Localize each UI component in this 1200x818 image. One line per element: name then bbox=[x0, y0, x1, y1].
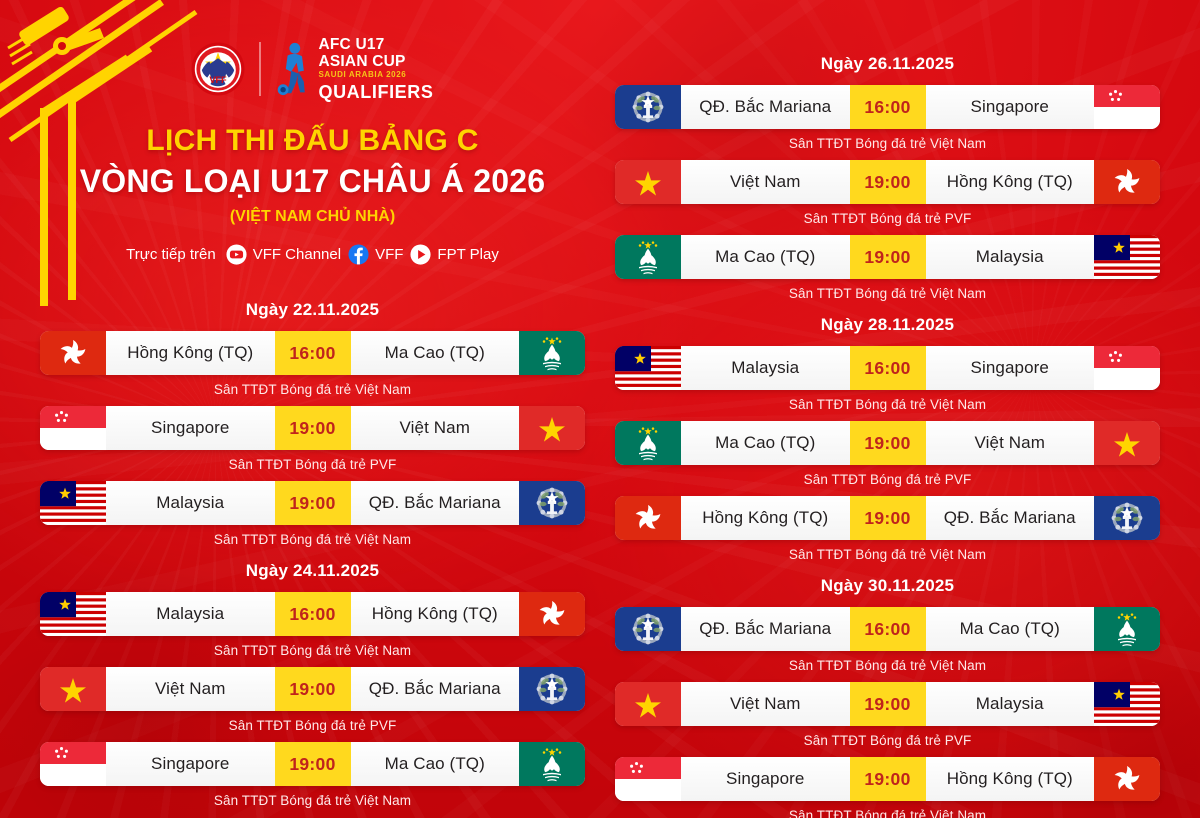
match-time: 16:00 bbox=[275, 592, 351, 636]
match-time: 16:00 bbox=[850, 607, 926, 651]
day-block: Ngày 30.11.2025 bbox=[615, 576, 1160, 818]
away-team-name: Malaysia bbox=[926, 235, 1095, 279]
youtube-icon bbox=[226, 244, 247, 265]
day-block: Ngày 22.11.2025 Hồng Kông (TQ) 16:00 Ma … bbox=[40, 300, 585, 547]
flag-macau bbox=[1094, 607, 1160, 651]
vff-logo-icon: VFF bbox=[191, 42, 245, 96]
flag-vietnam bbox=[1094, 421, 1160, 465]
match-venue: Sân TTĐT Bóng đá trẻ Việt Nam bbox=[615, 658, 1160, 673]
home-team-name: QĐ. Bắc Mariana bbox=[681, 85, 850, 129]
fixture-poster: VFF AFC U17 ASIAN CUP SAUDI ARABIA 2026 … bbox=[0, 0, 1200, 818]
home-flag-cell bbox=[615, 346, 681, 390]
flag-malaysia bbox=[40, 592, 106, 636]
flag-northern-mariana-islands bbox=[615, 607, 681, 651]
match-venue: Sân TTĐT Bóng đá trẻ PVF bbox=[615, 211, 1160, 226]
flag-macau bbox=[615, 421, 681, 465]
home-flag-cell bbox=[40, 331, 106, 375]
away-flag-cell bbox=[519, 481, 585, 525]
away-flag-cell bbox=[1094, 757, 1160, 801]
home-flag-cell bbox=[40, 667, 106, 711]
home-flag-cell bbox=[615, 160, 681, 204]
broadcast-youtube[interactable]: VFF Channel bbox=[226, 244, 341, 265]
match-time: 19:00 bbox=[275, 667, 351, 711]
afc-logo-block: AFC U17 ASIAN CUP SAUDI ARABIA 2026 QUAL… bbox=[275, 37, 433, 101]
broadcast-facebook-label: VFF bbox=[375, 246, 403, 263]
match-row[interactable]: Hồng Kông (TQ) 16:00 Ma Cao (TQ) bbox=[40, 331, 585, 375]
match-row[interactable]: Ma Cao (TQ) 19:00 Việt Nam bbox=[615, 421, 1160, 465]
match-row[interactable]: Hồng Kông (TQ) 19:00 QĐ. Bắc Mariana bbox=[615, 496, 1160, 540]
away-flag-cell bbox=[519, 331, 585, 375]
match-venue: Sân TTĐT Bóng đá trẻ Việt Nam bbox=[40, 643, 585, 658]
flag-northern-mariana-islands bbox=[615, 85, 681, 129]
flag-vietnam bbox=[615, 682, 681, 726]
afc-line-1: AFC U17 bbox=[318, 37, 433, 53]
match-venue: Sân TTĐT Bóng đá trẻ Việt Nam bbox=[615, 397, 1160, 412]
broadcast-lead-label: Trực tiếp trên bbox=[126, 246, 216, 263]
home-team-name: Hồng Kông (TQ) bbox=[106, 331, 275, 375]
match-venue: Sân TTĐT Bóng đá trẻ Việt Nam bbox=[615, 136, 1160, 151]
home-flag-cell bbox=[615, 85, 681, 129]
match-venue: Sân TTĐT Bóng đá trẻ Việt Nam bbox=[615, 286, 1160, 301]
afc-logo-text: AFC U17 ASIAN CUP SAUDI ARABIA 2026 QUAL… bbox=[318, 37, 433, 101]
flag-northern-mariana-islands bbox=[519, 667, 585, 711]
flag-singapore bbox=[40, 406, 106, 450]
home-flag-cell bbox=[40, 742, 106, 786]
schedule-column-left: Ngày 22.11.2025 Hồng Kông (TQ) 16:00 Ma … bbox=[40, 300, 585, 817]
match-venue: Sân TTĐT Bóng đá trẻ PVF bbox=[40, 718, 585, 733]
away-flag-cell bbox=[519, 592, 585, 636]
home-flag-cell bbox=[615, 682, 681, 726]
match-row[interactable]: QĐ. Bắc Mariana 16:00 Ma Cao (TQ) bbox=[615, 607, 1160, 651]
match-venue: Sân TTĐT Bóng đá trẻ Việt Nam bbox=[40, 793, 585, 808]
away-flag-cell bbox=[1094, 682, 1160, 726]
flag-vietnam bbox=[519, 406, 585, 450]
flag-malaysia bbox=[1094, 682, 1160, 726]
away-team-name: Malaysia bbox=[926, 682, 1095, 726]
away-team-name: Việt Nam bbox=[351, 406, 520, 450]
home-team-name: Ma Cao (TQ) bbox=[681, 421, 850, 465]
away-flag-cell bbox=[1094, 496, 1160, 540]
broadcast-facebook[interactable]: VFF bbox=[348, 244, 403, 265]
home-team-name: Singapore bbox=[106, 406, 275, 450]
home-flag-cell bbox=[615, 607, 681, 651]
match-time: 19:00 bbox=[850, 235, 926, 279]
home-flag-cell bbox=[615, 496, 681, 540]
flag-hong-kong bbox=[40, 331, 106, 375]
day-date-label: Ngày 24.11.2025 bbox=[40, 561, 585, 581]
home-flag-cell bbox=[40, 406, 106, 450]
flag-malaysia bbox=[1094, 235, 1160, 279]
home-flag-cell bbox=[615, 757, 681, 801]
day-date-label: Ngày 22.11.2025 bbox=[40, 300, 585, 320]
afc-line-2: ASIAN CUP bbox=[318, 54, 433, 70]
day-date-label: Ngày 30.11.2025 bbox=[615, 576, 1160, 596]
day-date-label: Ngày 28.11.2025 bbox=[615, 315, 1160, 335]
away-team-name: QĐ. Bắc Mariana bbox=[926, 496, 1095, 540]
away-flag-cell bbox=[519, 742, 585, 786]
home-team-name: Việt Nam bbox=[681, 682, 850, 726]
broadcast-fptplay-label: FPT Play bbox=[437, 246, 498, 263]
day-block: Ngày 24.11.2025 Malaysia 16:00 Hồng Kông… bbox=[40, 561, 585, 808]
flag-macau bbox=[615, 235, 681, 279]
home-team-name: QĐ. Bắc Mariana bbox=[681, 607, 850, 651]
away-team-name: QĐ. Bắc Mariana bbox=[351, 667, 520, 711]
match-time: 19:00 bbox=[850, 496, 926, 540]
away-team-name: Singapore bbox=[926, 85, 1095, 129]
match-venue: Sân TTĐT Bóng đá trẻ Việt Nam bbox=[615, 808, 1160, 818]
home-team-name: Malaysia bbox=[106, 481, 275, 525]
match-venue: Sân TTĐT Bóng đá trẻ Việt Nam bbox=[615, 547, 1160, 562]
away-flag-cell bbox=[1094, 85, 1160, 129]
away-flag-cell bbox=[1094, 607, 1160, 651]
page-title-line-3: (VIỆT NAM CHỦ NHÀ) bbox=[40, 208, 585, 226]
svg-text:VFF: VFF bbox=[210, 75, 228, 85]
fptplay-icon bbox=[410, 244, 431, 265]
home-team-name: Việt Nam bbox=[681, 160, 850, 204]
match-row[interactable]: Malaysia 16:00 Hồng Kông (TQ) bbox=[40, 592, 585, 636]
match-venue: Sân TTĐT Bóng đá trẻ Việt Nam bbox=[40, 382, 585, 397]
afc-line-4: QUALIFIERS bbox=[318, 83, 433, 101]
match-venue: Sân TTĐT Bóng đá trẻ PVF bbox=[615, 733, 1160, 748]
match-row[interactable]: Việt Nam 19:00 Malaysia bbox=[615, 682, 1160, 726]
day-date-label: Ngày 26.11.2025 bbox=[615, 54, 1160, 74]
away-team-name: Ma Cao (TQ) bbox=[351, 331, 520, 375]
flag-hong-kong bbox=[519, 592, 585, 636]
match-row[interactable]: Singapore 19:00 Hồng Kông (TQ) bbox=[615, 757, 1160, 801]
flag-singapore bbox=[1094, 85, 1160, 129]
afc-player-icon bbox=[275, 41, 311, 97]
flag-hong-kong bbox=[1094, 160, 1160, 204]
match-time: 19:00 bbox=[275, 742, 351, 786]
home-team-name: Singapore bbox=[106, 742, 275, 786]
afc-line-3: SAUDI ARABIA 2026 bbox=[318, 71, 433, 79]
match-row[interactable]: Malaysia 19:00 QĐ. Bắc Mariana bbox=[40, 481, 585, 525]
away-flag-cell bbox=[519, 667, 585, 711]
schedule-column-right: Ngày 26.11.2025 bbox=[615, 40, 1160, 818]
flag-vietnam bbox=[615, 160, 681, 204]
day-block: Ngày 26.11.2025 bbox=[615, 54, 1160, 301]
day-block: Ngày 28.11.2025 Malaysia 16:00 Singapore bbox=[615, 315, 1160, 562]
flag-singapore bbox=[40, 742, 106, 786]
home-team-name: Malaysia bbox=[106, 592, 275, 636]
flag-northern-mariana-islands bbox=[519, 481, 585, 525]
page-title-line-2: VÒNG LOẠI U17 CHÂU Á 2026 bbox=[40, 163, 585, 200]
away-team-name: Hồng Kông (TQ) bbox=[926, 160, 1095, 204]
home-team-name: Ma Cao (TQ) bbox=[681, 235, 850, 279]
away-flag-cell bbox=[1094, 346, 1160, 390]
match-row[interactable]: Việt Nam 19:00 Hồng Kông (TQ) bbox=[615, 160, 1160, 204]
home-team-name: Việt Nam bbox=[106, 667, 275, 711]
facebook-icon bbox=[348, 244, 369, 265]
match-row[interactable]: Singapore 19:00 Ma Cao (TQ) bbox=[40, 742, 585, 786]
broadcast-row: Trực tiếp trên VFF Channel VFF bbox=[40, 244, 585, 265]
match-row[interactable]: Singapore 19:00 Việt Nam bbox=[40, 406, 585, 450]
home-flag-cell bbox=[615, 235, 681, 279]
flag-malaysia bbox=[40, 481, 106, 525]
away-flag-cell bbox=[1094, 421, 1160, 465]
away-team-name: QĐ. Bắc Mariana bbox=[351, 481, 520, 525]
match-time: 19:00 bbox=[850, 421, 926, 465]
away-team-name: Ma Cao (TQ) bbox=[351, 742, 520, 786]
match-venue: Sân TTĐT Bóng đá trẻ Việt Nam bbox=[40, 532, 585, 547]
match-time: 16:00 bbox=[850, 85, 926, 129]
poster-header: VFF AFC U17 ASIAN CUP SAUDI ARABIA 2026 … bbox=[40, 30, 585, 265]
match-time: 16:00 bbox=[850, 346, 926, 390]
match-row[interactable]: QĐ. Bắc Mariana 16:00 Singapore bbox=[615, 85, 1160, 129]
home-team-name: Hồng Kông (TQ) bbox=[681, 496, 850, 540]
away-team-name: Hồng Kông (TQ) bbox=[926, 757, 1095, 801]
away-team-name: Việt Nam bbox=[926, 421, 1095, 465]
home-flag-cell bbox=[615, 421, 681, 465]
match-time: 19:00 bbox=[275, 481, 351, 525]
match-time: 19:00 bbox=[275, 406, 351, 450]
match-row[interactable]: Việt Nam 19:00 QĐ. Bắc Mariana bbox=[40, 667, 585, 711]
logo-row: VFF AFC U17 ASIAN CUP SAUDI ARABIA 2026 … bbox=[40, 30, 585, 108]
match-row[interactable]: Malaysia 16:00 Singapore bbox=[615, 346, 1160, 390]
flag-macau bbox=[519, 742, 585, 786]
flag-northern-mariana-islands bbox=[1094, 496, 1160, 540]
flag-hong-kong bbox=[1094, 757, 1160, 801]
flag-malaysia bbox=[615, 346, 681, 390]
flag-singapore bbox=[615, 757, 681, 801]
away-team-name: Singapore bbox=[926, 346, 1095, 390]
away-flag-cell bbox=[519, 406, 585, 450]
match-time: 19:00 bbox=[850, 682, 926, 726]
match-row[interactable]: Ma Cao (TQ) 19:00 Malaysia bbox=[615, 235, 1160, 279]
logo-separator bbox=[259, 42, 261, 96]
broadcast-youtube-label: VFF Channel bbox=[253, 246, 341, 263]
match-time: 19:00 bbox=[850, 160, 926, 204]
match-venue: Sân TTĐT Bóng đá trẻ PVF bbox=[615, 472, 1160, 487]
home-flag-cell bbox=[40, 592, 106, 636]
match-venue: Sân TTĐT Bóng đá trẻ PVF bbox=[40, 457, 585, 472]
home-team-name: Malaysia bbox=[681, 346, 850, 390]
match-time: 16:00 bbox=[275, 331, 351, 375]
flag-hong-kong bbox=[615, 496, 681, 540]
flag-macau bbox=[519, 331, 585, 375]
broadcast-fptplay[interactable]: FPT Play bbox=[410, 244, 498, 265]
flag-vietnam bbox=[40, 667, 106, 711]
away-flag-cell bbox=[1094, 160, 1160, 204]
home-team-name: Singapore bbox=[681, 757, 850, 801]
flag-singapore bbox=[1094, 346, 1160, 390]
match-time: 19:00 bbox=[850, 757, 926, 801]
away-team-name: Ma Cao (TQ) bbox=[926, 607, 1095, 651]
away-flag-cell bbox=[1094, 235, 1160, 279]
page-title-line-1: LỊCH THI ĐẤU BẢNG C bbox=[40, 124, 585, 158]
away-team-name: Hồng Kông (TQ) bbox=[351, 592, 520, 636]
home-flag-cell bbox=[40, 481, 106, 525]
